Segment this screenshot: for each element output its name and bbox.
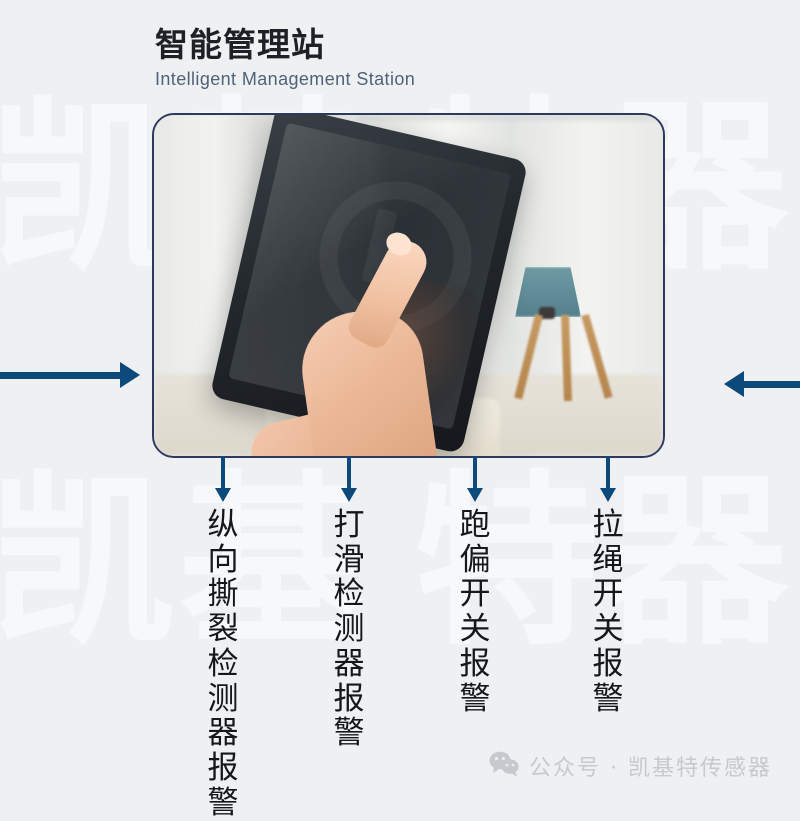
wechat-label: 公众号 · 凯基特传感器	[529, 750, 772, 782]
callout-label: 拉绳开关报警	[589, 508, 627, 716]
callout-line	[221, 456, 225, 490]
page-subtitle: Intelligent Management Station	[155, 69, 415, 90]
arrow-down-icon	[467, 488, 483, 502]
photo-scene	[154, 115, 663, 456]
background-watermark-glyph: 凯基	[0, 470, 368, 655]
right-arrow-head-icon	[724, 371, 744, 397]
arrow-down-icon	[341, 488, 357, 502]
wechat-icon	[489, 751, 519, 782]
arrow-down-icon	[600, 488, 616, 502]
callout-line	[606, 456, 610, 490]
wechat-footer: 公众号 · 凯基特传感器	[489, 750, 772, 782]
photo-panel	[152, 113, 665, 458]
left-arrow-head-icon	[120, 362, 140, 388]
page-title: 智能管理站	[155, 24, 415, 65]
page-header: 智能管理站 Intelligent Management Station	[155, 24, 415, 90]
arrow-down-icon	[215, 488, 231, 502]
callout-label: 跑偏开关报警	[456, 508, 494, 716]
callout-line	[473, 456, 477, 490]
left-inbound-arrow	[0, 372, 122, 379]
callout-label: 纵向撕裂检测器报警	[204, 508, 242, 820]
callout-line	[347, 456, 351, 490]
callout-label: 打滑检测器报警	[330, 508, 368, 751]
right-inbound-arrow	[742, 381, 800, 388]
